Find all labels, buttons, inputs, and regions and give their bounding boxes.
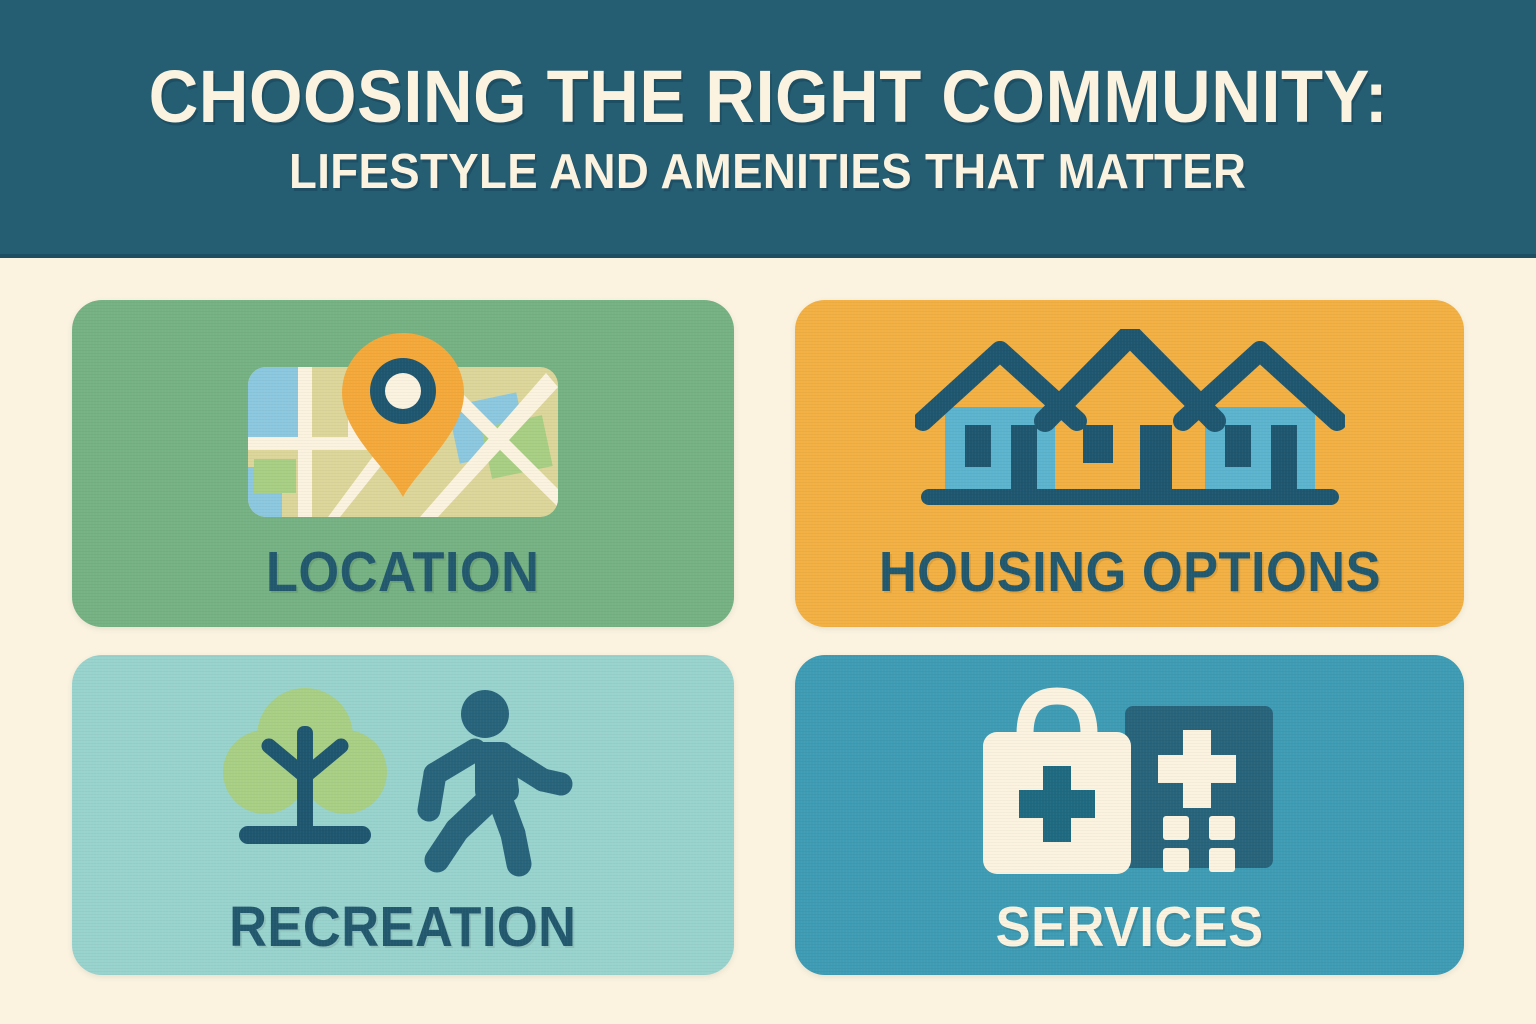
houses-icon — [915, 326, 1345, 531]
page-title: CHOOSING THE RIGHT COMMUNITY: — [148, 61, 1387, 134]
poster-header: CHOOSING THE RIGHT COMMUNITY: LIFESTYLE … — [0, 0, 1536, 258]
shopping-bag-and-hospital-icon-svg — [965, 684, 1295, 884]
card-services[interactable]: SERVICES — [795, 655, 1464, 975]
card-housing-options-label: HOUSING OPTIONS — [878, 539, 1380, 605]
card-location-label: LOCATION — [266, 539, 540, 605]
card-recreation[interactable]: RECREATION — [72, 655, 734, 975]
page-subtitle: LIFESTYLE AND AMENITIES THAT MATTER — [289, 148, 1246, 197]
cards-grid: LOCATION — [72, 300, 1464, 975]
card-recreation-label: RECREATION — [229, 894, 576, 960]
tree-and-walking-person-icon — [213, 681, 593, 886]
card-location[interactable]: LOCATION — [72, 300, 734, 627]
card-services-label: SERVICES — [996, 894, 1264, 960]
houses-icon-svg — [915, 329, 1345, 529]
tree-and-walking-person-icon-svg — [213, 684, 593, 884]
card-housing-options[interactable]: HOUSING OPTIONS — [795, 300, 1464, 627]
infographic-poster: CHOOSING THE RIGHT COMMUNITY: LIFESTYLE … — [0, 0, 1536, 1024]
map-pin-icon — [238, 326, 568, 531]
map-pin-icon-svg — [238, 329, 568, 529]
shopping-bag-and-hospital-icon — [965, 681, 1295, 886]
